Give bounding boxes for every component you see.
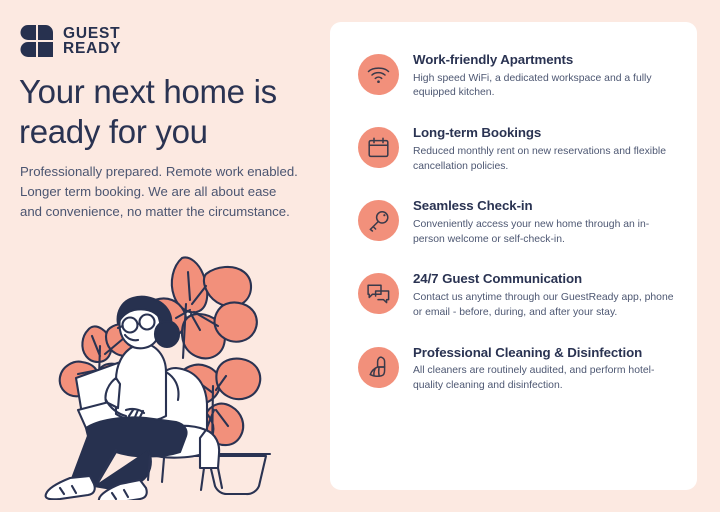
feature-description: All cleaners are routinely audited, and …	[413, 364, 679, 394]
poster-root: GUEST READY Your next home is ready for …	[0, 0, 720, 512]
feature-description: Contact us anytime through our GuestRead…	[413, 291, 679, 321]
feature-item-professional-cleaning[interactable]: Professional Cleaning & Disinfection All…	[330, 345, 697, 394]
feature-text: Seamless Check-in Conveniently access yo…	[413, 198, 679, 247]
feature-description: High speed WiFi, a dedicated workspace a…	[413, 72, 679, 102]
left-panel: GUEST READY Your next home is ready for …	[0, 0, 330, 512]
brand-line-1: GUEST	[63, 26, 121, 42]
guestready-quadrant-logo-icon	[20, 24, 54, 58]
feature-text: Work-friendly Apartments High speed WiFi…	[413, 52, 679, 101]
brand-wordmark: GUEST READY	[63, 26, 121, 57]
page-headline: Your next home is ready for you	[19, 72, 319, 153]
feature-title: Seamless Check-in	[413, 198, 679, 215]
feature-icon-circle	[358, 54, 399, 95]
chat-bubbles-icon	[367, 283, 390, 304]
brand-logo[interactable]: GUEST READY	[20, 24, 121, 58]
calendar-icon	[368, 137, 389, 158]
broom-icon	[368, 356, 390, 378]
wifi-icon	[367, 65, 390, 84]
feature-item-long-term-bookings[interactable]: Long-term Bookings Reduced monthly rent …	[330, 125, 697, 174]
feature-title: Long-term Bookings	[413, 125, 679, 142]
feature-item-seamless-check-in[interactable]: Seamless Check-in Conveniently access yo…	[330, 198, 697, 247]
feature-item-guest-communication[interactable]: 24/7 Guest Communication Contact us anyt…	[330, 271, 697, 320]
feature-list: Work-friendly Apartments High speed WiFi…	[330, 22, 697, 394]
feature-text: 24/7 Guest Communication Contact us anyt…	[413, 271, 679, 320]
feature-icon-circle	[358, 347, 399, 388]
feature-icon-circle	[358, 273, 399, 314]
feature-item-work-friendly-apartments[interactable]: Work-friendly Apartments High speed WiFi…	[330, 52, 697, 101]
feature-text: Professional Cleaning & Disinfection All…	[413, 345, 679, 394]
key-icon	[368, 210, 390, 232]
feature-title: Professional Cleaning & Disinfection	[413, 345, 679, 362]
page-subcopy: Professionally prepared. Remote work ena…	[20, 162, 300, 222]
feature-title: Work-friendly Apartments	[413, 52, 679, 69]
feature-icon-circle	[358, 127, 399, 168]
feature-description: Conveniently access your new home throug…	[413, 218, 679, 248]
brand-line-2: READY	[63, 41, 121, 57]
feature-icon-circle	[358, 200, 399, 241]
feature-description: Reduced monthly rent on new reservations…	[413, 145, 679, 175]
features-card: Work-friendly Apartments High speed WiFi…	[330, 22, 697, 490]
feature-title: 24/7 Guest Communication	[413, 271, 679, 288]
hero-illustration	[30, 238, 310, 500]
feature-text: Long-term Bookings Reduced monthly rent …	[413, 125, 679, 174]
